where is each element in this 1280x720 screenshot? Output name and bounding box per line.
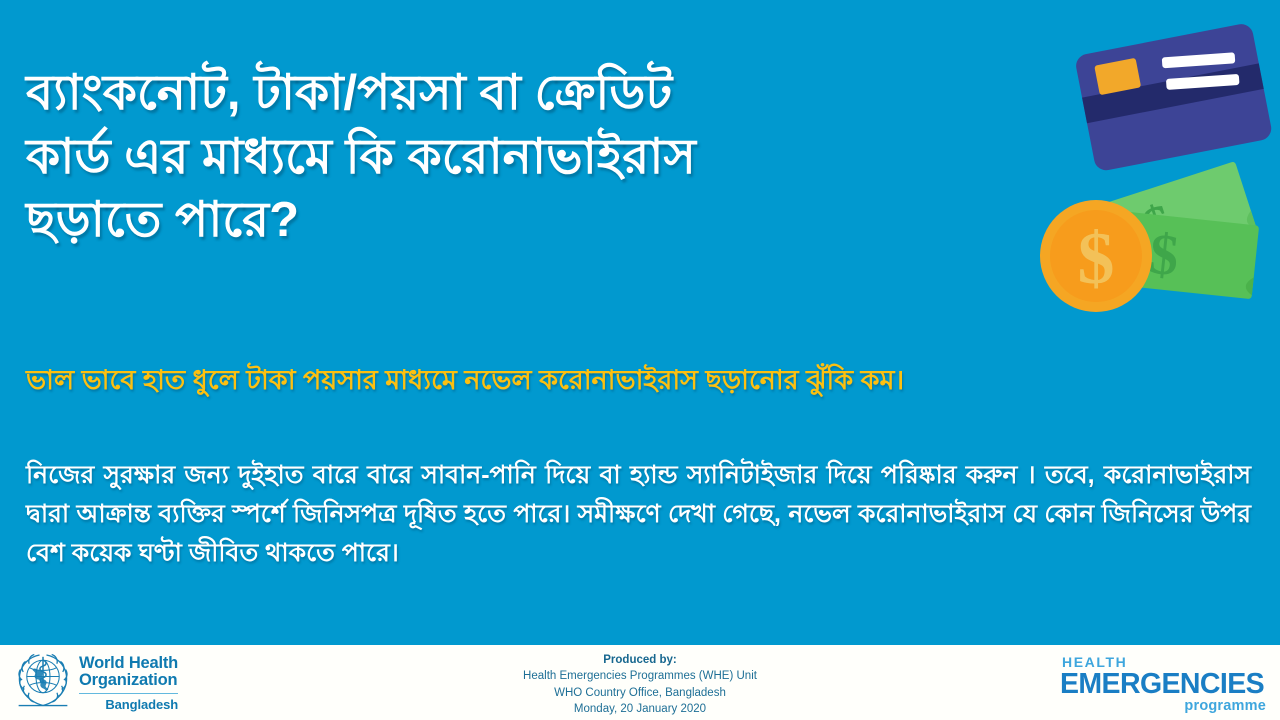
who-emblem-icon (14, 651, 72, 709)
produced-by-label: Produced by: (430, 652, 850, 668)
who-logo-divider (79, 693, 178, 694)
credit-card-icon (1074, 22, 1273, 172)
produced-by-credit: Produced by: Health Emergencies Programm… (430, 652, 850, 717)
health-emergencies-programme-logo: HEALTH EMERGENCIES programme (1060, 655, 1266, 714)
who-logo-line2: Organization (79, 672, 178, 689)
credit-line-office: WHO Country Office, Bangladesh (430, 685, 850, 701)
coin-icon: $ (1040, 200, 1152, 312)
who-logo-country: Bangladesh (79, 697, 178, 712)
he-logo-programme: programme (1060, 699, 1266, 714)
he-logo-emergencies: EMERGENCIES (1060, 670, 1266, 699)
credit-card-and-money-illustration: $ $ $ (1000, 0, 1280, 350)
slide-canvas: ব্যাংকনোট, টাকা/পয়সা বা ক্রেডিট কার্ড এ… (0, 0, 1280, 645)
page-title: ব্যাংকনোট, টাকা/পয়সা বা ক্রেডিট কার্ড এ… (26, 62, 1026, 253)
banknote-icon: $ $ (1093, 161, 1259, 299)
he-logo-health: HEALTH (1062, 655, 1266, 669)
lead-paragraph: ভাল ভাবে হাত ধুলে টাকা পয়সার মাধ্যমে নভ… (26, 362, 1241, 400)
svg-text:$: $ (1146, 220, 1182, 288)
who-logo-line1: World Health (79, 655, 178, 672)
credit-line-date: Monday, 20 January 2020 (430, 701, 850, 717)
svg-text:$: $ (1135, 192, 1181, 260)
who-logo: World Health Organization Bangladesh (14, 651, 178, 712)
footer: World Health Organization Bangladesh Pro… (0, 645, 1280, 720)
body-paragraph: নিজের সুরক্ষার জন্য দুইহাত বারে বারে সাব… (26, 456, 1251, 572)
slide-root: ব্যাংকনোট, টাকা/পয়সা বা ক্রেডিট কার্ড এ… (0, 0, 1280, 720)
credit-line-unit: Health Emergencies Programmes (WHE) Unit (430, 668, 850, 684)
svg-text:$: $ (1078, 218, 1115, 300)
